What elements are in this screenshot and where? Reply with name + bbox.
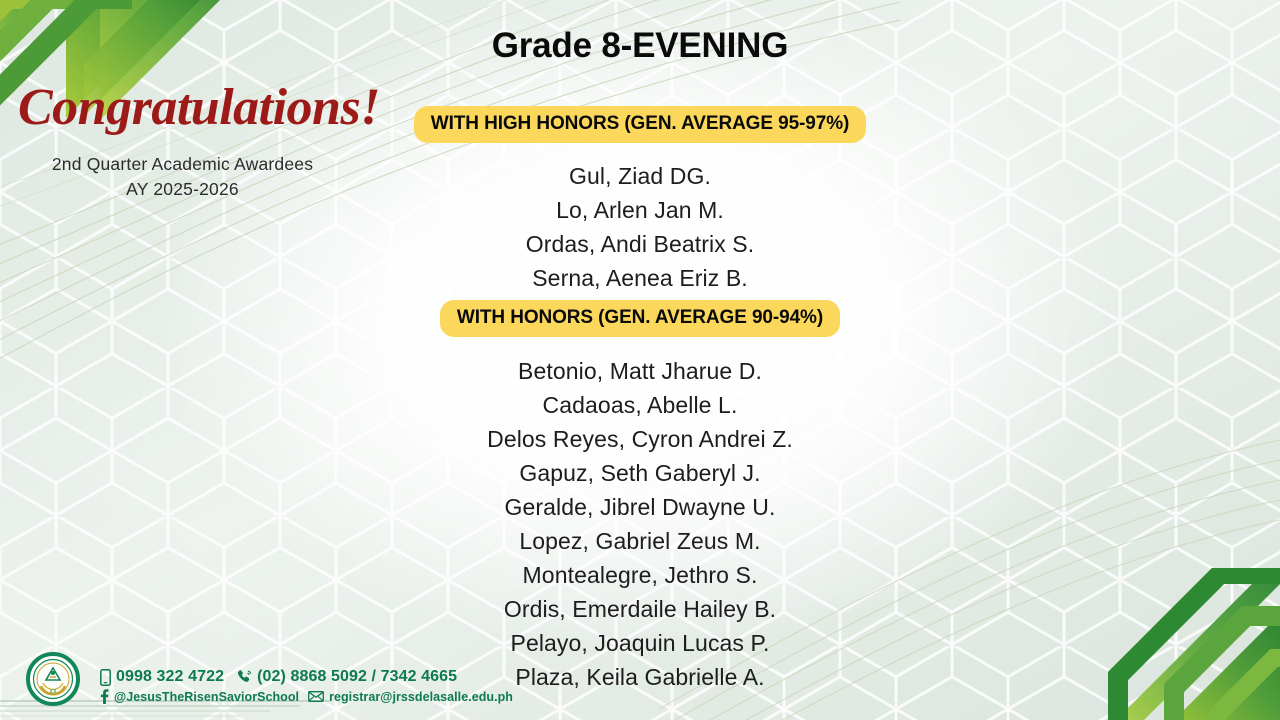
footer: JCR 0998 322 4722 (0, 648, 1280, 720)
contact-social-row: @JesusTheRisenSaviorSchool registrar@jrs… (100, 689, 513, 704)
list-item: Delos Reyes, Cyron Andrei Z. (0, 422, 1280, 456)
awardee-list-high-honors: Gul, Ziad DG. Lo, Arlen Jan M. Ordas, An… (0, 159, 1280, 295)
section-with-high-honors: WITH HIGH HONORS (GEN. AVERAGE 95-97%) G… (0, 106, 1280, 295)
email-envelope-icon (308, 691, 324, 702)
list-item: Betonio, Matt Jharue D. (0, 354, 1280, 388)
svg-text:JCR: JCR (49, 689, 57, 694)
email-address: registrar@jrssdelasalle.edu.ph (329, 690, 513, 704)
awardee-list-honors: Betonio, Matt Jharue D. Cadaoas, Abelle … (0, 354, 1280, 694)
contact-phone-row: 0998 322 4722 (02) 8868 5092 / 7342 4665 (100, 668, 513, 686)
badge-with-high-honors: WITH HIGH HONORS (GEN. AVERAGE 95-97%) (414, 106, 866, 143)
list-item: Gul, Ziad DG. (0, 159, 1280, 193)
facebook-handle: @JesusTheRisenSaviorSchool (114, 690, 299, 704)
list-item: Serna, Aenea Eriz B. (0, 261, 1280, 295)
section-with-honors: WITH HONORS (GEN. AVERAGE 90-94%) Betoni… (0, 300, 1280, 694)
list-item: Ordas, Andi Beatrix S. (0, 227, 1280, 261)
page-title: Grade 8-EVENING (0, 26, 1280, 66)
list-item: Ordis, Emerdaile Hailey B. (0, 592, 1280, 626)
awards-slide: Grade 8-EVENING Congratulations! 2nd Qua… (0, 0, 1280, 720)
list-item: Lopez, Gabriel Zeus M. (0, 524, 1280, 558)
telephone-icon (236, 669, 252, 685)
list-item: Geralde, Jibrel Dwayne U. (0, 490, 1280, 524)
list-item: Cadaoas, Abelle L. (0, 388, 1280, 422)
facebook-icon (100, 689, 109, 704)
list-item: Gapuz, Seth Gaberyl J. (0, 456, 1280, 490)
list-item: Lo, Arlen Jan M. (0, 193, 1280, 227)
contact-info: 0998 322 4722 (02) 8868 5092 / 7342 4665 (100, 668, 513, 704)
landline-number: (02) 8868 5092 / 7342 4665 (257, 668, 457, 686)
mobile-phone-icon (100, 669, 111, 686)
mobile-number: 0998 322 4722 (116, 668, 224, 686)
list-item: Montealegre, Jethro S. (0, 558, 1280, 592)
school-logo-icon: JCR (26, 652, 80, 706)
badge-with-honors: WITH HONORS (GEN. AVERAGE 90-94%) (440, 300, 840, 337)
